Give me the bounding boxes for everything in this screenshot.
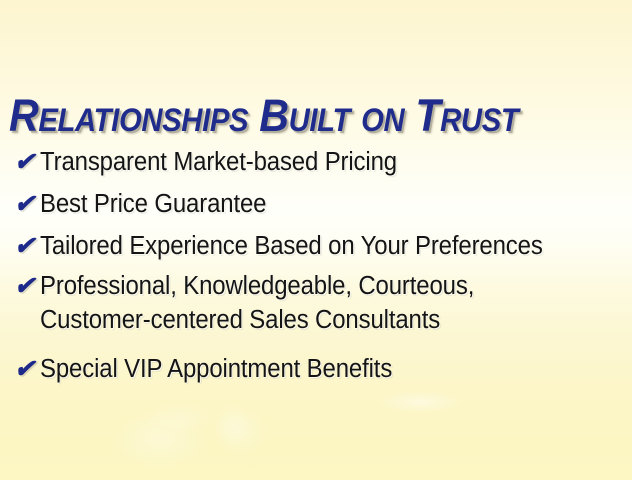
list-item: ✔ Special VIP Appointment Benefits bbox=[0, 352, 632, 386]
check-icon: ✔ bbox=[14, 269, 40, 303]
list-item-label: Tailored Experience Based on Your Prefer… bbox=[40, 229, 596, 263]
list-item: ✔ Professional, Knowledgeable, Courteous… bbox=[0, 269, 632, 337]
check-icon: ✔ bbox=[14, 145, 40, 179]
benefits-bullet-list: ✔ Transparent Market-based Pricing ✔ Bes… bbox=[0, 145, 632, 394]
check-icon: ✔ bbox=[14, 229, 40, 263]
list-item: ✔ Transparent Market-based Pricing bbox=[0, 145, 632, 179]
list-item-label: Professional, Knowledgeable, Courteous, … bbox=[40, 269, 596, 337]
list-item: ✔ Tailored Experience Based on Your Pref… bbox=[0, 229, 632, 263]
list-item: ✔ Best Price Guarantee bbox=[0, 187, 632, 221]
list-item-label: Special VIP Appointment Benefits bbox=[40, 352, 596, 386]
list-item-label: Best Price Guarantee bbox=[40, 187, 596, 221]
check-icon: ✔ bbox=[14, 352, 40, 386]
presentation-slide: Relationships Built on Trust ✔ Transpare… bbox=[0, 0, 632, 480]
list-item-label: Transparent Market-based Pricing bbox=[40, 145, 596, 179]
slide-title: Relationships Built on Trust bbox=[9, 93, 576, 139]
check-icon: ✔ bbox=[14, 187, 40, 221]
